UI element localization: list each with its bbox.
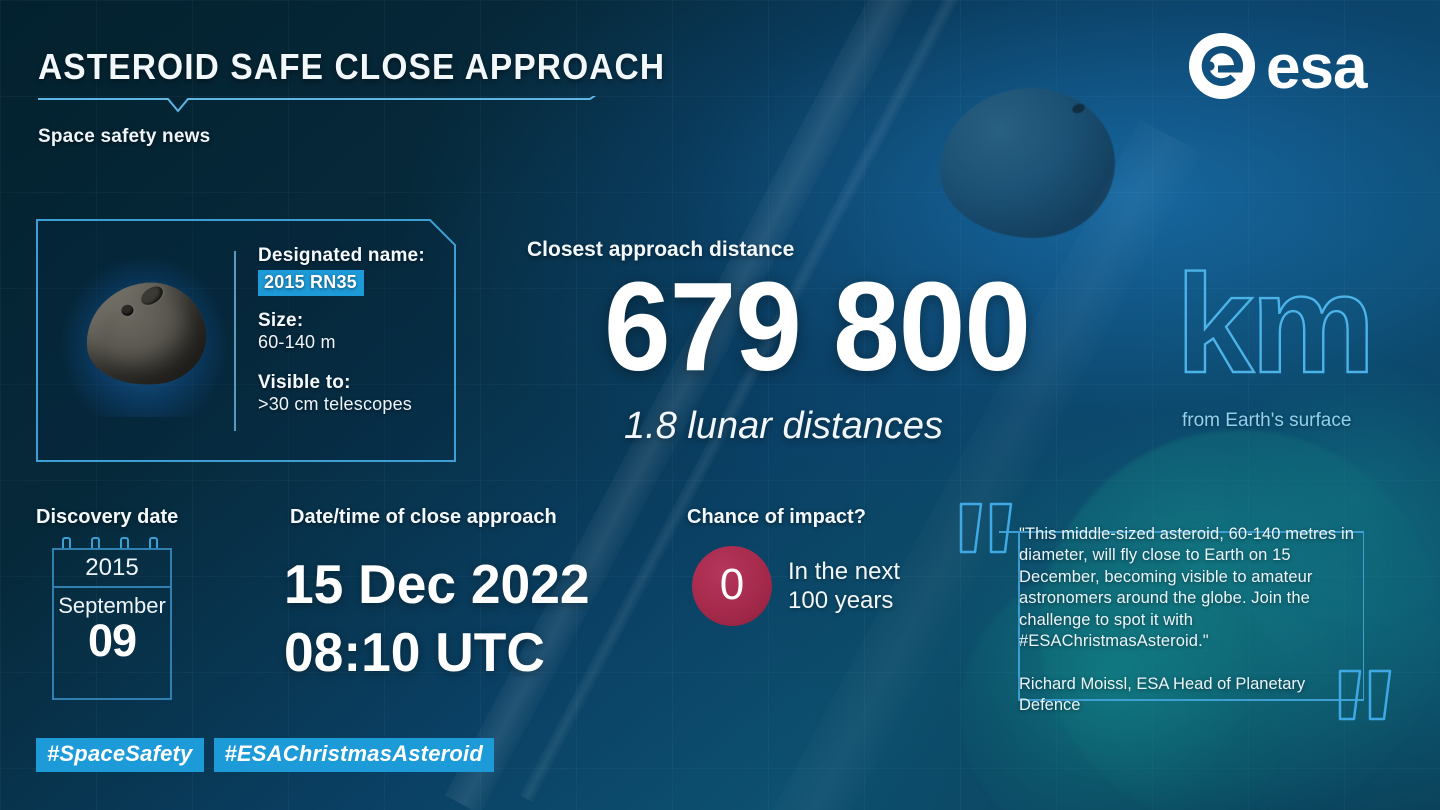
closest-approach-value: 679 800 bbox=[604, 264, 1030, 390]
impact-probability-value: 0 bbox=[720, 563, 744, 607]
designated-name-value: 2015 RN35 bbox=[258, 270, 364, 296]
impact-timeframe-text: In the next 100 years bbox=[788, 557, 900, 616]
discovery-date-label: Discovery date bbox=[36, 506, 178, 529]
km-unit-outline: km bbox=[1176, 268, 1376, 388]
designated-name-label: Designated name: bbox=[258, 245, 458, 267]
crater-icon bbox=[121, 304, 134, 316]
close-approach-time-value: 08:10 UTC bbox=[284, 620, 545, 684]
title-underline-rule bbox=[38, 96, 613, 114]
close-approach-datetime-label: Date/time of close approach bbox=[290, 506, 557, 529]
quote-open-icon bbox=[957, 498, 1019, 558]
calendar-body: 2015 September 09 bbox=[52, 548, 172, 700]
info-divider bbox=[234, 251, 236, 431]
header: ASTEROID SAFE CLOSE APPROACH bbox=[38, 46, 712, 88]
km-unit-sublabel: from Earth's surface bbox=[1182, 410, 1351, 432]
asteroid-thumbnail bbox=[62, 257, 227, 417]
km-unit-text: km bbox=[1176, 268, 1372, 388]
page-title: ASTEROID SAFE CLOSE APPROACH bbox=[38, 46, 665, 88]
impact-probability-badge: 0 bbox=[692, 546, 772, 626]
close-approach-date-value: 15 Dec 2022 bbox=[284, 552, 590, 616]
hashtag-space-safety[interactable]: #SpaceSafety bbox=[36, 738, 204, 772]
visible-to-label: Visible to: bbox=[258, 372, 458, 394]
esa-logo: esa bbox=[1188, 32, 1406, 100]
calendar-year: 2015 bbox=[54, 550, 170, 588]
quote-attribution: Richard Moissl, ESA Head of Planetary De… bbox=[1019, 674, 1349, 717]
closest-approach-lunar-distance: 1.8 lunar distances bbox=[624, 405, 943, 448]
page-subtitle: Space safety news bbox=[38, 126, 210, 148]
asteroid-info-box: Designated name: 2015 RN35 Size: 60-140 … bbox=[36, 219, 456, 462]
chance-of-impact-label: Chance of impact? bbox=[687, 506, 866, 529]
quote-text: "This middle-sized asteroid, 60-140 metr… bbox=[1019, 524, 1359, 653]
size-value: 60-140 m bbox=[258, 332, 458, 353]
calendar-day: 09 bbox=[54, 617, 170, 664]
size-label: Size: bbox=[258, 310, 458, 332]
impact-timeframe-line2: 100 years bbox=[788, 586, 900, 615]
hashtag-esa-christmas-asteroid[interactable]: #ESAChristmasAsteroid bbox=[214, 738, 495, 772]
impact-timeframe-line1: In the next bbox=[788, 557, 900, 586]
visible-to-value: >30 cm telescopes bbox=[258, 394, 458, 415]
svg-text:esa: esa bbox=[1266, 33, 1368, 100]
infographic-canvas: ASTEROID SAFE CLOSE APPROACH Space safet… bbox=[0, 0, 1440, 810]
background-asteroid-graphic bbox=[940, 88, 1115, 238]
hashtag-list: #SpaceSafety #ESAChristmasAsteroid bbox=[36, 738, 494, 772]
info-text-column: Designated name: 2015 RN35 Size: 60-140 … bbox=[258, 245, 458, 415]
discovery-calendar: 2015 September 09 bbox=[52, 548, 172, 700]
light-streak bbox=[520, 0, 992, 802]
crater-icon bbox=[138, 283, 166, 309]
